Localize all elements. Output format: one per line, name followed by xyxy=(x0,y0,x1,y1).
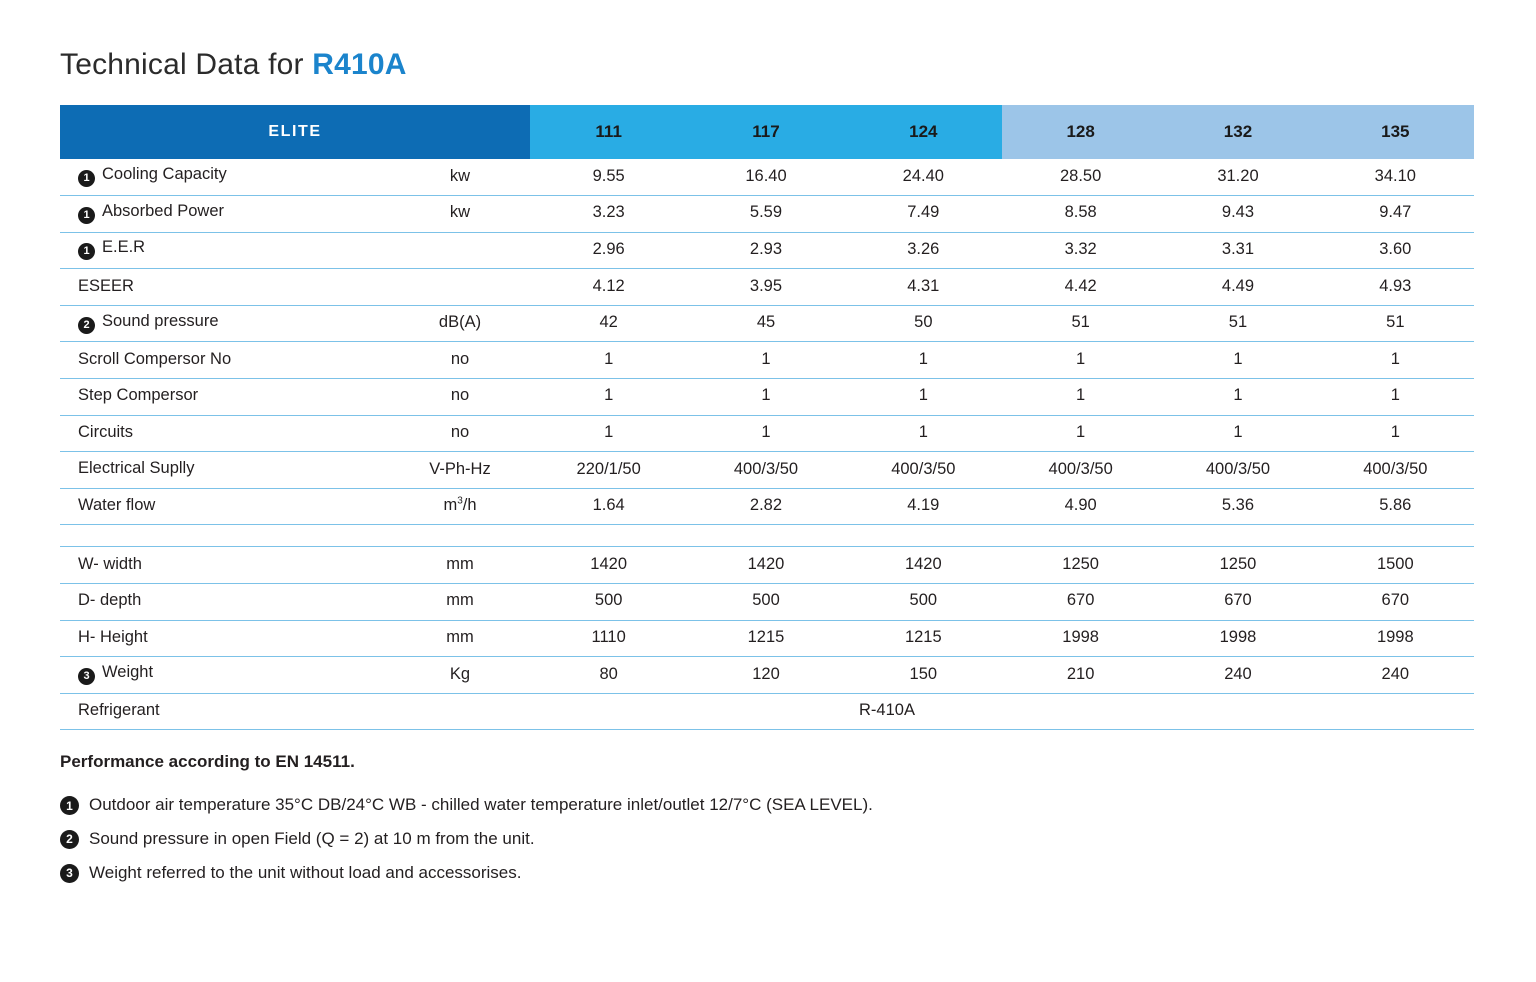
row-value: 1 xyxy=(1317,415,1474,452)
row-value: 670 xyxy=(1002,584,1159,621)
footnote-item: 3Weight referred to the unit without loa… xyxy=(60,862,1480,885)
row-label-text: Sound pressure xyxy=(102,312,219,330)
row-unit: mm xyxy=(390,620,530,657)
row-value: 3.26 xyxy=(845,232,1002,269)
row-value: 1.64 xyxy=(530,488,687,525)
row-value: 50 xyxy=(845,305,1002,342)
row-label-text: Refrigerant xyxy=(78,701,160,719)
row-label: Refrigerant xyxy=(60,693,390,730)
footnote-item: 1Outdoor air temperature 35°C DB/24°C WB… xyxy=(60,794,1480,817)
row-value: 1 xyxy=(530,342,687,379)
row-unit: no xyxy=(390,415,530,452)
row-value: 1250 xyxy=(1002,547,1159,584)
row-value: 4.12 xyxy=(530,269,687,306)
row-value: 51 xyxy=(1317,305,1474,342)
row-value: 210 xyxy=(1002,657,1159,694)
table-row: Electrical SupllyV-Ph-Hz220/1/50400/3/50… xyxy=(60,452,1474,489)
row-value: 51 xyxy=(1002,305,1159,342)
row-unit: no xyxy=(390,379,530,416)
row-label-text: Electrical Suplly xyxy=(78,460,194,478)
row-label: Circuits xyxy=(60,415,390,452)
row-value: 3.95 xyxy=(687,269,844,306)
row-value: 7.49 xyxy=(845,196,1002,233)
row-value: 9.47 xyxy=(1317,196,1474,233)
row-value: 400/3/50 xyxy=(1159,452,1316,489)
row-label-text: Scroll Compersor No xyxy=(78,350,231,368)
footnote-item: 2Sound pressure in open Field (Q = 2) at… xyxy=(60,828,1480,851)
footnote-badge-icon: 1 xyxy=(78,170,95,187)
header-model-111: 111 xyxy=(530,105,687,159)
row-label: Scroll Compersor No xyxy=(60,342,390,379)
row-value: 220/1/50 xyxy=(530,452,687,489)
row-label: H- Height xyxy=(60,620,390,657)
table-row: 3WeightKg80120150210240240 xyxy=(60,657,1474,694)
row-value: 120 xyxy=(687,657,844,694)
row-value: 500 xyxy=(687,584,844,621)
row-label-text: H- Height xyxy=(78,628,148,646)
row-unit: kw xyxy=(390,196,530,233)
row-unit: V-Ph-Hz xyxy=(390,452,530,489)
footer-notes: Performance according to EN 14511. 1Outd… xyxy=(60,752,1480,896)
table-row: Step Compersorno111111 xyxy=(60,379,1474,416)
row-label-text: Weight xyxy=(102,663,153,681)
row-value: 1998 xyxy=(1159,620,1316,657)
table-row: D- depthmm500500500670670670 xyxy=(60,584,1474,621)
header-elite: ELITE xyxy=(60,105,530,159)
row-value: 3.60 xyxy=(1317,232,1474,269)
row-label: 1E.E.R xyxy=(60,232,390,269)
row-value: 1500 xyxy=(1317,547,1474,584)
row-label-text: E.E.R xyxy=(102,239,145,257)
header-model-117: 117 xyxy=(687,105,844,159)
row-label-text: Water flow xyxy=(78,496,155,514)
row-value: 2.93 xyxy=(687,232,844,269)
row-value: 1420 xyxy=(687,547,844,584)
footnote-badge-icon: 2 xyxy=(60,830,79,849)
row-value-span: R-410A xyxy=(530,693,1474,730)
table-row: 1Absorbed Powerkw3.235.597.498.589.439.4… xyxy=(60,196,1474,233)
row-label-text: ESEER xyxy=(78,277,134,295)
row-value: 9.43 xyxy=(1159,196,1316,233)
row-value: 1420 xyxy=(530,547,687,584)
footnote-list: 1Outdoor air temperature 35°C DB/24°C WB… xyxy=(60,794,1480,885)
row-value: 3.32 xyxy=(1002,232,1159,269)
row-value: 670 xyxy=(1317,584,1474,621)
header-model-132: 132 xyxy=(1159,105,1316,159)
row-value: 1215 xyxy=(845,620,1002,657)
row-value: 45 xyxy=(687,305,844,342)
spec-table-body: 1Cooling Capacitykw9.5516.4024.4028.5031… xyxy=(60,159,1474,730)
row-value: 1 xyxy=(845,415,1002,452)
row-value: 4.42 xyxy=(1002,269,1159,306)
row-value: 5.86 xyxy=(1317,488,1474,525)
row-value: 1 xyxy=(1002,379,1159,416)
row-label: 1Absorbed Power xyxy=(60,196,390,233)
table-row: W- widthmm142014201420125012501500 xyxy=(60,547,1474,584)
row-unit: dB(A) xyxy=(390,305,530,342)
row-label-text: Absorbed Power xyxy=(102,202,224,220)
row-label: W- width xyxy=(60,547,390,584)
row-value: 34.10 xyxy=(1317,159,1474,196)
table-row: RefrigerantR-410A xyxy=(60,693,1474,730)
row-value: 4.93 xyxy=(1317,269,1474,306)
row-value: 4.19 xyxy=(845,488,1002,525)
header-row: ELITE 111 117 124 128 132 135 xyxy=(60,105,1474,159)
footnote-text: Outdoor air temperature 35°C DB/24°C WB … xyxy=(89,794,873,817)
row-value: 51 xyxy=(1159,305,1316,342)
row-label: Water flow xyxy=(60,488,390,525)
row-value: 31.20 xyxy=(1159,159,1316,196)
row-value: 1250 xyxy=(1159,547,1316,584)
row-label-text: D- depth xyxy=(78,591,141,609)
row-value: 1 xyxy=(1317,379,1474,416)
row-unit: m3/h xyxy=(390,488,530,525)
row-value: 16.40 xyxy=(687,159,844,196)
row-value: 500 xyxy=(845,584,1002,621)
footnote-badge-icon: 1 xyxy=(78,243,95,260)
table-row: 1Cooling Capacitykw9.5516.4024.4028.5031… xyxy=(60,159,1474,196)
row-value: 5.36 xyxy=(1159,488,1316,525)
row-value: 2.96 xyxy=(530,232,687,269)
footnote-badge-icon: 3 xyxy=(78,668,95,685)
footnote-text: Weight referred to the unit without load… xyxy=(89,862,521,885)
row-value: 4.31 xyxy=(845,269,1002,306)
header-model-124: 124 xyxy=(845,105,1002,159)
table-row: 2Sound pressuredB(A)424550515151 xyxy=(60,305,1474,342)
row-value: 1420 xyxy=(845,547,1002,584)
row-value: 1110 xyxy=(530,620,687,657)
row-value: 1998 xyxy=(1317,620,1474,657)
row-value: 3.23 xyxy=(530,196,687,233)
table-row: Scroll Compersor Nono111111 xyxy=(60,342,1474,379)
row-value: 1 xyxy=(687,415,844,452)
performance-statement: Performance according to EN 14511. xyxy=(60,752,1480,772)
row-value: 3.31 xyxy=(1159,232,1316,269)
row-value: 5.59 xyxy=(687,196,844,233)
row-value: 2.82 xyxy=(687,488,844,525)
row-value: 400/3/50 xyxy=(1317,452,1474,489)
spec-table-head: ELITE 111 117 124 128 132 135 xyxy=(60,105,1474,159)
row-value: 240 xyxy=(1317,657,1474,694)
row-unit: Kg xyxy=(390,657,530,694)
row-label: 2Sound pressure xyxy=(60,305,390,342)
row-value: 1998 xyxy=(1002,620,1159,657)
row-value: 1 xyxy=(845,342,1002,379)
technical-data-page: Technical Data for R410A ELITE 111 117 1… xyxy=(0,0,1536,982)
row-unit xyxy=(390,232,530,269)
row-value: 1 xyxy=(530,415,687,452)
row-value: 400/3/50 xyxy=(687,452,844,489)
row-value: 1 xyxy=(1317,342,1474,379)
row-value: 4.90 xyxy=(1002,488,1159,525)
row-value: 9.55 xyxy=(530,159,687,196)
row-value: 1 xyxy=(687,342,844,379)
row-value: 1215 xyxy=(687,620,844,657)
row-label: Step Compersor xyxy=(60,379,390,416)
row-value: 28.50 xyxy=(1002,159,1159,196)
row-value: 80 xyxy=(530,657,687,694)
row-value: 1 xyxy=(1159,342,1316,379)
row-label: D- depth xyxy=(60,584,390,621)
table-row: ESEER4.123.954.314.424.494.93 xyxy=(60,269,1474,306)
row-value: 24.40 xyxy=(845,159,1002,196)
table-row: 1E.E.R2.962.933.263.323.313.60 xyxy=(60,232,1474,269)
row-value: 4.49 xyxy=(1159,269,1316,306)
row-label-text: Cooling Capacity xyxy=(102,165,227,183)
row-unit xyxy=(390,693,530,730)
row-value: 1 xyxy=(1159,415,1316,452)
row-unit: kw xyxy=(390,159,530,196)
row-label-text: W- width xyxy=(78,555,142,573)
row-label-text: Step Compersor xyxy=(78,386,198,404)
header-model-135: 135 xyxy=(1317,105,1474,159)
footnote-badge-icon: 1 xyxy=(78,207,95,224)
page-title-prefix: Technical Data for xyxy=(60,48,312,81)
row-label: Electrical Suplly xyxy=(60,452,390,489)
spec-table: ELITE 111 117 124 128 132 135 1Cooling C… xyxy=(60,105,1474,730)
row-unit: no xyxy=(390,342,530,379)
row-label-text: Circuits xyxy=(78,423,133,441)
footnote-text: Sound pressure in open Field (Q = 2) at … xyxy=(89,828,535,851)
row-value: 500 xyxy=(530,584,687,621)
header-model-128: 128 xyxy=(1002,105,1159,159)
row-unit xyxy=(390,269,530,306)
row-value: 150 xyxy=(845,657,1002,694)
row-label: 1Cooling Capacity xyxy=(60,159,390,196)
footnote-badge-icon: 1 xyxy=(60,796,79,815)
row-value: 1 xyxy=(1159,379,1316,416)
table-row: Circuitsno111111 xyxy=(60,415,1474,452)
row-label: ESEER xyxy=(60,269,390,306)
row-value: 670 xyxy=(1159,584,1316,621)
row-value: 1 xyxy=(1002,415,1159,452)
row-value: 8.58 xyxy=(1002,196,1159,233)
row-value: 42 xyxy=(530,305,687,342)
row-value: 1 xyxy=(530,379,687,416)
row-unit: mm xyxy=(390,584,530,621)
row-value: 1 xyxy=(845,379,1002,416)
row-value: 400/3/50 xyxy=(845,452,1002,489)
page-title: Technical Data for R410A xyxy=(60,48,407,82)
row-value: 1 xyxy=(1002,342,1159,379)
footnote-badge-icon: 3 xyxy=(60,864,79,883)
spec-table-wrapper: ELITE 111 117 124 128 132 135 1Cooling C… xyxy=(60,105,1474,730)
row-value: 1 xyxy=(687,379,844,416)
row-unit: mm xyxy=(390,547,530,584)
table-spacer-cell xyxy=(60,525,1474,547)
table-row: Water flowm3/h1.642.824.194.905.365.86 xyxy=(60,488,1474,525)
table-row: H- Heightmm111012151215199819981998 xyxy=(60,620,1474,657)
row-value: 400/3/50 xyxy=(1002,452,1159,489)
row-label: 3Weight xyxy=(60,657,390,694)
table-spacer-row xyxy=(60,525,1474,547)
footnote-badge-icon: 2 xyxy=(78,317,95,334)
page-title-accent: R410A xyxy=(312,48,406,81)
row-value: 240 xyxy=(1159,657,1316,694)
